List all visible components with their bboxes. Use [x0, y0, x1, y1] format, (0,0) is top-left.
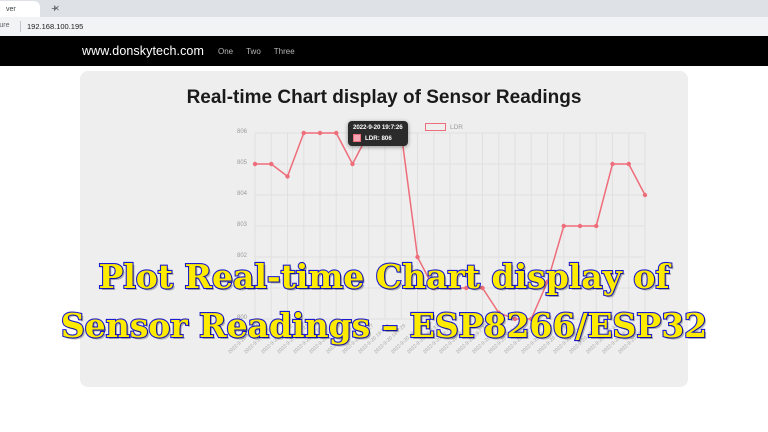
tooltip-swatch [353, 134, 361, 142]
nav-link-three[interactable]: Three [274, 47, 295, 56]
chart-area[interactable]: LDR 2022-9-20 19:7:26 LDR: 806 800801802… [80, 119, 688, 379]
y-tick-label: 800 [227, 315, 247, 321]
nav-link-two[interactable]: Two [246, 47, 261, 56]
y-tick-label: 806 [227, 129, 247, 135]
tab-strip: ver ✕ + [0, 0, 768, 17]
tooltip-series-row: LDR: 806 [353, 134, 403, 142]
browser-tab[interactable]: ver [0, 1, 40, 17]
security-status-label: ecure [0, 22, 10, 29]
page-body: Real-time Chart display of Sensor Readin… [0, 66, 768, 432]
chart-legend[interactable]: LDR [425, 123, 463, 131]
y-tick-label: 805 [227, 160, 247, 166]
y-tick-label: 804 [227, 191, 247, 197]
y-tick-label: 802 [227, 253, 247, 259]
tooltip-timestamp: 2022-9-20 19:7:26 [353, 124, 403, 131]
browser-chrome: ver ✕ + ecure 192.168.100.195 [0, 0, 768, 36]
nav-link-one[interactable]: One [218, 47, 233, 56]
tooltip-value: LDR: 806 [365, 135, 392, 142]
legend-marker-ldr [425, 123, 446, 131]
chart-card: Real-time Chart display of Sensor Readin… [80, 71, 688, 387]
omnibox[interactable]: ecure 192.168.100.195 [0, 17, 768, 37]
chart-tooltip: 2022-9-20 19:7:26 LDR: 806 [348, 121, 408, 146]
site-navbar: www.donskytech.com One Two Three [0, 36, 768, 66]
legend-label-ldr: LDR [450, 124, 463, 131]
chart-title: Real-time Chart display of Sensor Readin… [80, 87, 688, 109]
site-brand[interactable]: www.donskytech.com [82, 44, 204, 58]
plus-icon[interactable]: + [48, 3, 61, 16]
y-tick-label: 801 [227, 284, 247, 290]
nav-links: One Two Three [218, 47, 308, 56]
omnibox-divider [20, 21, 21, 32]
y-tick-label: 803 [227, 222, 247, 228]
url-text: 192.168.100.195 [27, 22, 83, 31]
tab-title: ver [6, 6, 16, 13]
